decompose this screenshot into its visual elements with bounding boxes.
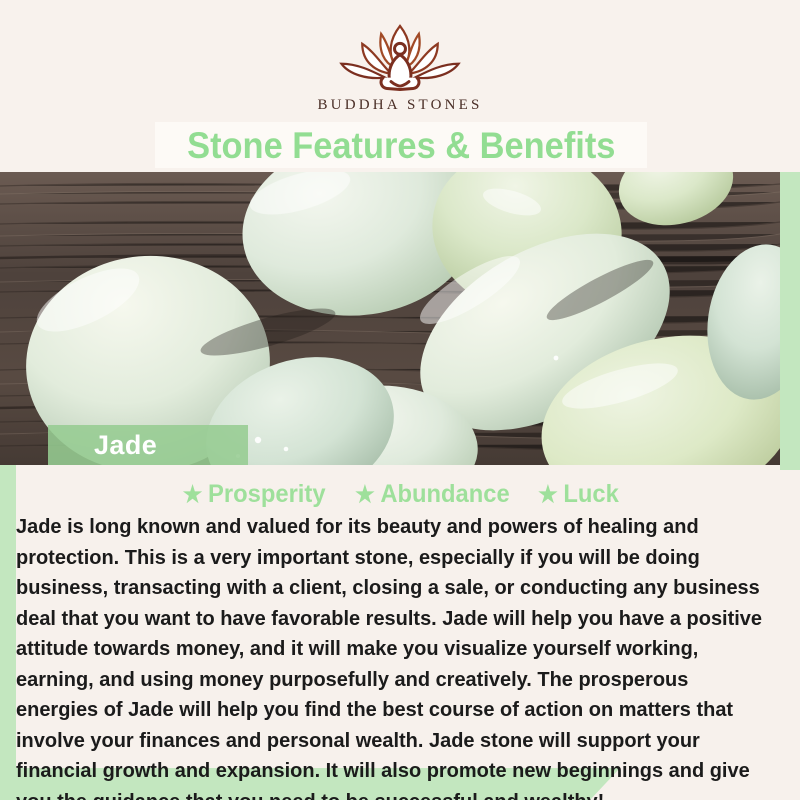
stone-info-card: BUDDHA STONES Stone Features & Benefits	[0, 0, 800, 800]
decoration-left-lower-band	[0, 465, 16, 775]
benefits-list: ★ Prosperity ★ Abundance ★ Luck	[0, 478, 800, 510]
page-title: Stone Features & Benefits	[187, 127, 615, 164]
benefit-label: Prosperity	[208, 480, 325, 509]
stone-name-label: Jade	[48, 425, 248, 465]
header: BUDDHA STONES Stone Features & Benefits	[0, 0, 800, 172]
benefit-item-abundance: ★ Abundance	[355, 480, 510, 509]
stone-photo-image	[0, 172, 780, 465]
lotus-meditation-icon	[325, 22, 475, 94]
brand-logo: BUDDHA STONES	[0, 22, 800, 114]
stone-name-text: Jade	[94, 430, 157, 461]
star-icon: ★	[538, 483, 558, 506]
benefit-label: Abundance	[381, 480, 510, 509]
stone-photo	[0, 172, 780, 465]
benefit-item-prosperity: ★ Prosperity	[183, 480, 326, 509]
benefit-label: Luck	[563, 480, 618, 509]
stone-description-text: Jade is long known and valued for its be…	[16, 512, 772, 800]
title-banner: Stone Features & Benefits	[155, 122, 647, 168]
star-icon: ★	[183, 483, 203, 506]
benefit-item-luck: ★ Luck	[538, 480, 619, 509]
star-icon: ★	[355, 483, 375, 506]
brand-name: BUDDHA STONES	[317, 97, 482, 114]
stone-description: Jade is long known and valued for its be…	[16, 512, 772, 800]
